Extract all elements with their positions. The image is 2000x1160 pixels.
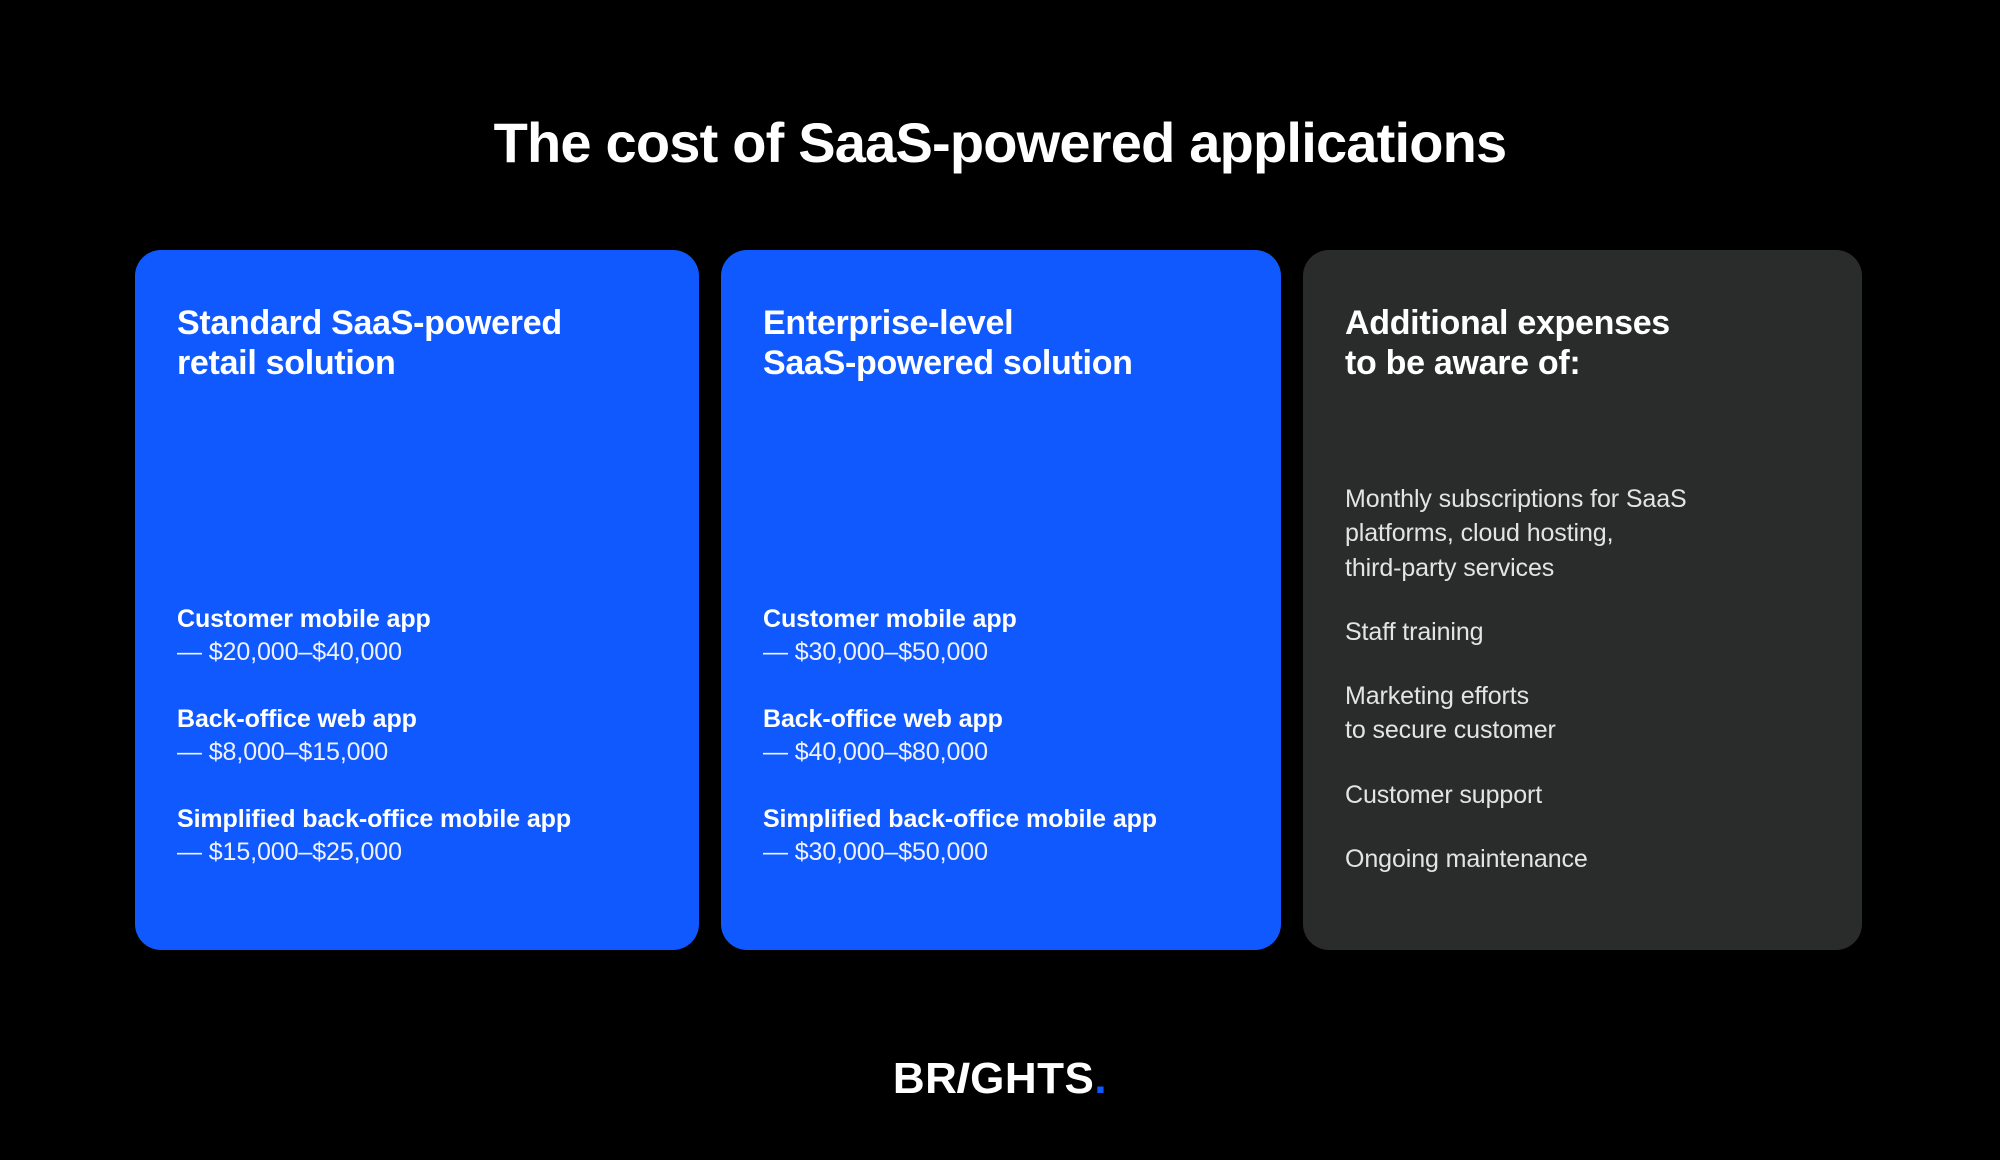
expense-item: Staff training (1345, 615, 1826, 649)
page-title: The cost of SaaS-powered applications (0, 112, 2000, 174)
price-item-label: Customer mobile app (177, 605, 657, 635)
price-item: Back-office web app — $40,000–$80,000 (763, 705, 1239, 767)
price-item: Customer mobile app — $20,000–$40,000 (177, 605, 657, 667)
card-heading-additional-expenses: Additional expenses to be aware of: (1345, 304, 1820, 384)
price-item-value: — $40,000–$80,000 (763, 738, 1239, 768)
price-item: Simplified back-office mobile app — $30,… (763, 805, 1239, 867)
expense-item: Marketing efforts to secure customer (1345, 679, 1826, 748)
card-additional-expenses: Additional expenses to be aware of: Mont… (1303, 250, 1862, 950)
expense-list: Monthly subscriptions for SaaS platforms… (1345, 482, 1826, 876)
card-enterprise-saas: Enterprise-level SaaS-powered solution C… (721, 250, 1281, 950)
card-standard-saas-retail: Standard SaaS-powered retail solution Cu… (135, 250, 699, 950)
price-item-label: Back-office web app (763, 705, 1239, 735)
expense-item: Monthly subscriptions for SaaS platforms… (1345, 482, 1826, 585)
card-heading-standard: Standard SaaS-powered retail solution (177, 304, 657, 384)
price-item-value: — $20,000–$40,000 (177, 638, 657, 668)
price-item-value: — $30,000–$50,000 (763, 638, 1239, 668)
logo-text-part1: BR (893, 1054, 958, 1103)
expense-item: Ongoing maintenance (1345, 842, 1826, 876)
logo-text-part2: GHTS (970, 1054, 1094, 1103)
logo-dot: . (1094, 1054, 1107, 1103)
price-list-standard: Customer mobile app — $20,000–$40,000 Ba… (177, 605, 657, 867)
price-item-label: Simplified back-office mobile app (763, 805, 1239, 835)
price-item-value: — $8,000–$15,000 (177, 738, 657, 768)
price-item: Back-office web app — $8,000–$15,000 (177, 705, 657, 767)
expense-item: Customer support (1345, 778, 1826, 812)
card-heading-enterprise: Enterprise-level SaaS-powered solution (763, 304, 1239, 384)
price-item: Simplified back-office mobile app — $15,… (177, 805, 657, 867)
price-item-value: — $15,000–$25,000 (177, 838, 657, 868)
price-item: Customer mobile app — $30,000–$50,000 (763, 605, 1239, 667)
price-item-value: — $30,000–$50,000 (763, 838, 1239, 868)
price-item-label: Back-office web app (177, 705, 657, 735)
pricing-cards-row: Standard SaaS-powered retail solution Cu… (135, 250, 1862, 950)
brights-logo: BRIGHTS. (0, 1057, 2000, 1101)
price-item-label: Customer mobile app (763, 605, 1239, 635)
price-item-label: Simplified back-office mobile app (177, 805, 657, 835)
price-list-enterprise: Customer mobile app — $30,000–$50,000 Ba… (763, 605, 1239, 867)
